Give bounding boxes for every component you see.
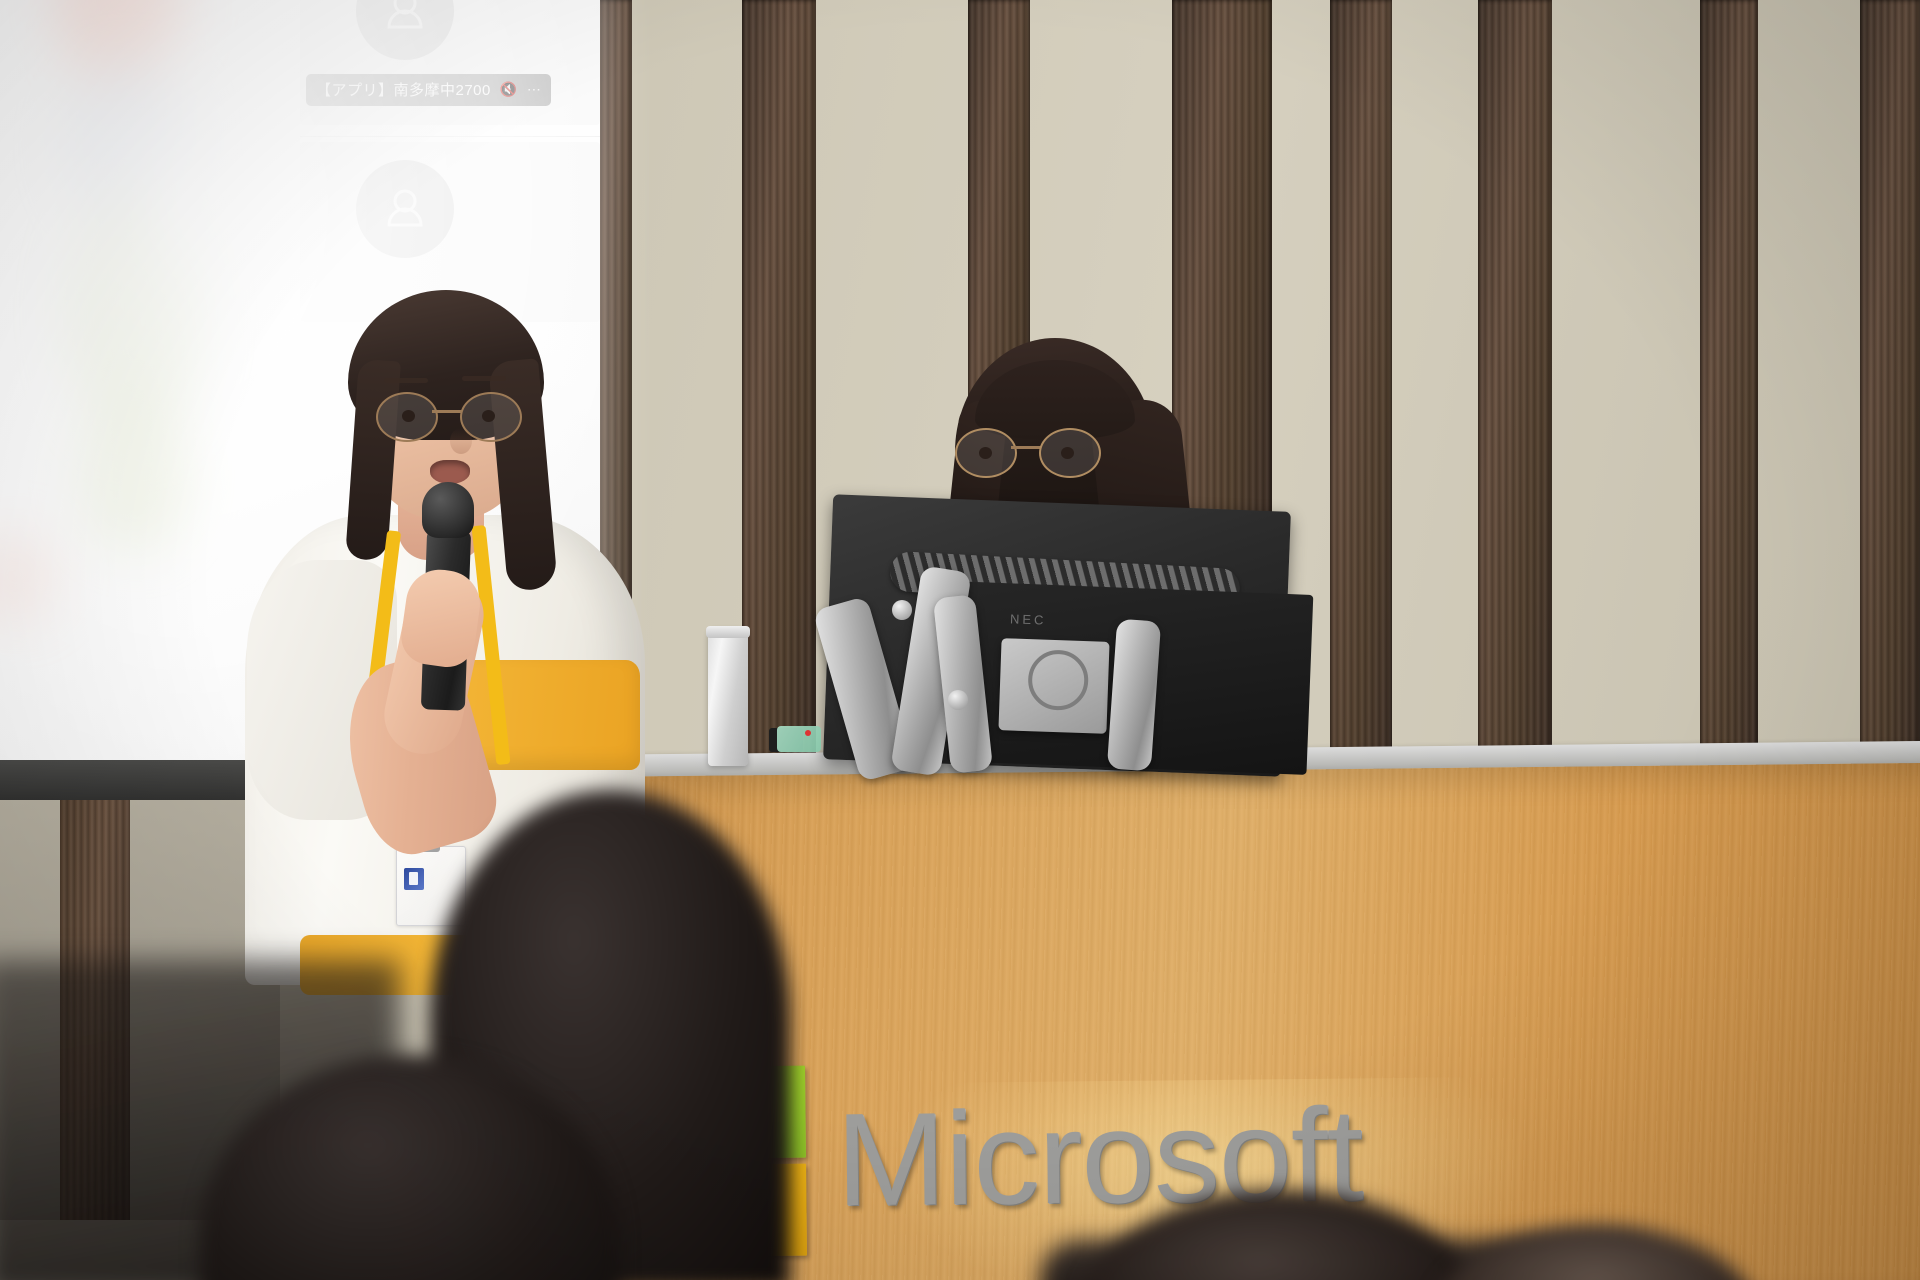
speaker-glasses-bridge [432, 410, 462, 413]
small-green-object [777, 726, 821, 752]
wall-slat-2 [742, 0, 816, 770]
person-avatar-icon [356, 160, 454, 258]
monitor-brand-label: NEC [1010, 611, 1047, 627]
wall-slat-7 [1700, 0, 1758, 780]
participant-name-label-1: 【アプリ】南多摩中2700 [316, 79, 491, 100]
indicator-led [805, 730, 811, 736]
assistant-glasses [955, 428, 1115, 476]
microphone-muted-icon: 🔇 [500, 81, 518, 98]
participant-tile-1[interactable]: ✋ 【アプリ】南多摩中2700 🔇 ⋯ [300, 0, 600, 125]
water-tumbler[interactable] [708, 628, 748, 766]
monitor-arm-joint-2 [948, 690, 968, 710]
person-avatar-icon [356, 0, 454, 60]
wall-slat-4 [1172, 0, 1272, 520]
wall-slat-5 [1330, 0, 1392, 780]
monitor-arm-joint-1 [892, 600, 912, 620]
slide-blob-pink [0, 530, 60, 620]
handheld-microphone-head[interactable] [422, 482, 474, 538]
water-tumbler-lid [706, 626, 750, 638]
monitor-vesa-mount [998, 638, 1109, 734]
more-options-icon[interactable]: ⋯ [527, 81, 542, 98]
speaker-brow-right [462, 376, 506, 381]
tile-divider [300, 136, 600, 137]
assistant-lens-right [1039, 428, 1101, 478]
wall-slat-6 [1478, 0, 1552, 780]
speaker-lens-left [376, 392, 438, 442]
speaker-eye-left [402, 410, 415, 422]
speaker-nose [450, 428, 472, 454]
wall-slat-8 [1860, 0, 1920, 780]
presentation-photo-scene: ✋ 【アプリ】南多摩中2700 🔇 ⋯ [0, 0, 1920, 1280]
badge-logo-mark [404, 868, 424, 890]
speaker-brow-left [384, 378, 428, 383]
participant-name-pill-1: 【アプリ】南多摩中2700 🔇 ⋯ [306, 74, 551, 106]
assistant-eye-left [979, 447, 992, 459]
speaker-mouth [430, 460, 470, 484]
speaker-eye-right [482, 410, 495, 422]
assistant-lens-left [955, 428, 1017, 478]
slide-blob-green-2 [80, 400, 190, 550]
assistant-eye-right [1061, 447, 1074, 459]
assistant-glasses-bridge [1011, 446, 1041, 449]
